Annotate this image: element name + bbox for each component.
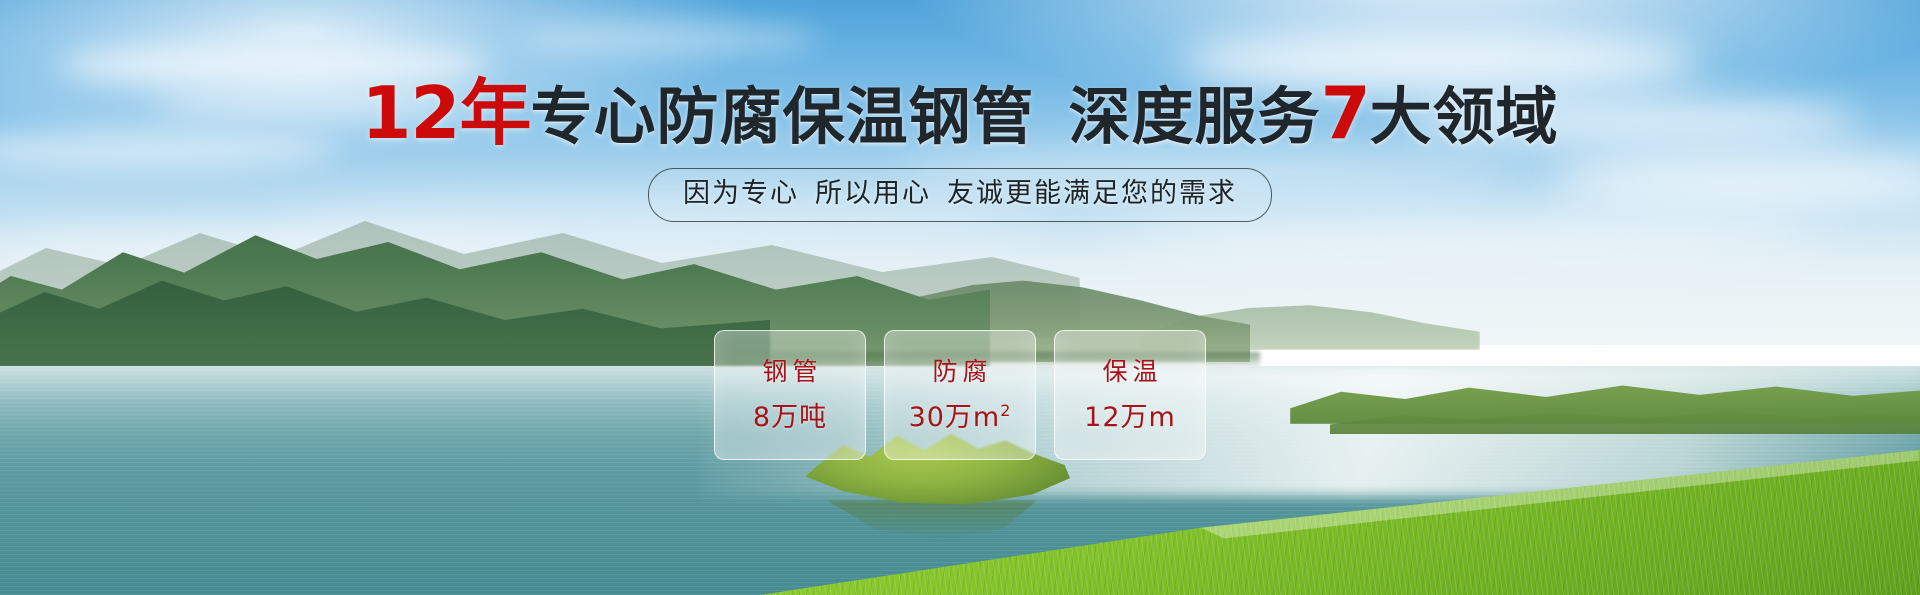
stat-card-value: 12万m: [1084, 403, 1176, 433]
subtitle-container: 因为专心所以用心友诚更能满足您的需求: [0, 168, 1920, 222]
stat-cards: 钢管 8万吨 防腐 30万m2 保温 12万m: [0, 330, 1920, 460]
stat-card-value-superscript: 2: [1000, 401, 1011, 420]
headline-main-text: 专心防腐保温钢管: [531, 80, 1035, 153]
headline: 12年专心防腐保温钢管深度服务7大领域: [0, 82, 1920, 148]
subtitle-part-3: 友诚更能满足您的需求: [947, 178, 1237, 209]
headline-years-number: 12: [361, 71, 459, 155]
stat-card-value: 30万m2: [909, 403, 1012, 433]
stat-card-label: 防腐: [927, 357, 992, 387]
banner-content: 12年专心防腐保温钢管深度服务7大领域 因为专心所以用心友诚更能满足您的需求 钢…: [0, 0, 1920, 595]
stat-card-anticorrosion[interactable]: 防腐 30万m2: [884, 330, 1036, 460]
stat-card-value-text: 8万吨: [753, 402, 827, 433]
subtitle-part-1: 因为专心: [683, 178, 799, 209]
stat-card-label: 保温: [1097, 357, 1162, 387]
stat-card-steel-pipe[interactable]: 钢管 8万吨: [714, 330, 866, 460]
stat-card-value: 8万吨: [753, 403, 827, 433]
headline-domains-number: 7: [1321, 71, 1370, 155]
subtitle-part-2: 所以用心: [815, 178, 931, 209]
subtitle-pill: 因为专心所以用心友诚更能满足您的需求: [648, 168, 1272, 222]
hero-banner: 12年专心防腐保温钢管深度服务7大领域 因为专心所以用心友诚更能满足您的需求 钢…: [0, 0, 1920, 595]
stat-card-value-text: 30万m: [909, 402, 1001, 433]
headline-years-unit: 年: [460, 71, 531, 155]
stat-card-label: 钢管: [757, 357, 822, 387]
headline-domains-unit: 大领域: [1370, 80, 1559, 153]
stat-card-value-text: 12万m: [1084, 402, 1176, 433]
headline-service-text: 深度服务: [1069, 80, 1321, 153]
stat-card-insulation[interactable]: 保温 12万m: [1054, 330, 1206, 460]
